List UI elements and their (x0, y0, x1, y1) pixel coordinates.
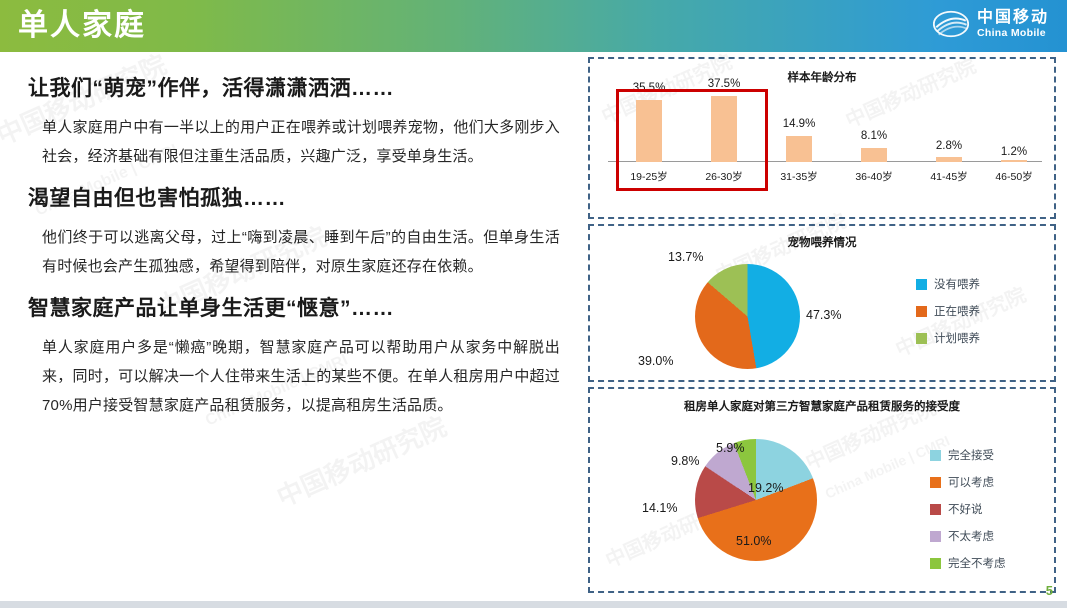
pie-value-label: 39.0% (638, 354, 673, 368)
legend-rental-acceptance: 完全接受 可以考虑 不好说 不太考虑 完全不考虑 (930, 447, 1006, 582)
bar-chart-plot-area: 35.5% 19-25岁 37.5% 26-30岁 14.9% 31-35岁 8… (600, 81, 1048, 186)
bar-category-label: 19-25岁 (614, 169, 684, 184)
slide-header: 单人家庭 中国移动 China Mobile (0, 0, 1067, 52)
legend-pet-feeding: 没有喂养 正在喂养 计划喂养 (916, 276, 980, 357)
section-freedom: 渴望自由但也害怕孤独…… 他们终于可以逃离父母，过上“嗨到凌晨、睡到午后”的自由… (28, 184, 560, 281)
bar-value-label: 14.9% (764, 118, 834, 130)
bar-value-label: 35.5% (614, 82, 684, 94)
legend-item[interactable]: 可以考虑 (930, 474, 1006, 490)
footer-bar (0, 601, 1067, 608)
pie-chart-pet-feeding (695, 264, 800, 369)
page-number: 5 (1046, 583, 1053, 598)
header-watermark (498, 0, 703, 52)
bar-rect (636, 100, 662, 162)
bar-chart-axis-line (608, 161, 1042, 162)
legend-item[interactable]: 完全接受 (930, 447, 1006, 463)
watermark-cn: 中国移动研究院 (270, 407, 451, 515)
bar-rect (936, 157, 962, 162)
china-mobile-swoosh-icon (933, 9, 969, 39)
legend-swatch-icon (916, 279, 927, 290)
legend-label: 不好说 (948, 501, 983, 517)
bar-value-label: 2.8% (914, 140, 984, 152)
china-mobile-logo: 中国移动 China Mobile (933, 9, 1049, 39)
text-content-column: 中国移动研究院 中国移动研究院 中国移动研究院 China Mobile | C… (0, 52, 580, 608)
legend-item[interactable]: 不好说 (930, 501, 1006, 517)
legend-swatch-icon (930, 450, 941, 461)
pie-value-label: 9.8% (671, 454, 700, 468)
legend-swatch-icon (930, 477, 941, 488)
legend-item[interactable]: 完全不考虑 (930, 555, 1006, 571)
legend-swatch-icon (930, 558, 941, 569)
legend-label: 完全接受 (948, 447, 994, 463)
legend-label: 计划喂养 (934, 330, 980, 346)
slide-root: 单人家庭 中国移动 China Mobile 中国移动研究院 中国移动研究院 中… (0, 0, 1067, 608)
bar-rect (786, 136, 812, 162)
legend-label: 完全不考虑 (948, 555, 1006, 571)
bar-category-label: 26-30岁 (689, 169, 759, 184)
bar-category-label: 46-50岁 (979, 169, 1049, 184)
legend-label: 可以考虑 (948, 474, 994, 490)
section-body: 他们终于可以逃离父母，过上“嗨到凌晨、睡到午后”的自由生活。但单身生活有时候也会… (28, 223, 560, 281)
logo-text-block: 中国移动 China Mobile (977, 10, 1049, 39)
bar-rect (1001, 160, 1027, 162)
legend-label: 不太考虑 (948, 528, 994, 544)
legend-item[interactable]: 不太考虑 (930, 528, 1006, 544)
legend-swatch-icon (916, 306, 927, 317)
page-title: 单人家庭 (18, 5, 146, 47)
bar-value-label: 37.5% (689, 78, 759, 90)
bar-value-label: 8.1% (839, 130, 909, 142)
chart-title: 宠物喂养情况 (590, 234, 1054, 250)
section-heading: 让我们“萌宠”作伴，活得潇潇洒洒…… (28, 74, 560, 104)
legend-item[interactable]: 计划喂养 (916, 330, 980, 346)
chart-title: 租房单人家庭对第三方智慧家庭产品租赁服务的接受度 (590, 398, 1054, 414)
pie-value-label: 47.3% (806, 308, 841, 322)
legend-swatch-icon (930, 504, 941, 515)
logo-text-cn: 中国移动 (977, 10, 1049, 26)
charts-column: 中国移动研究院 中国移动研究院 样本年龄分布 35.5% 19-25岁 37.5… (588, 52, 1067, 608)
bar-rect (711, 96, 737, 162)
bar-category-label: 36-40岁 (839, 169, 909, 184)
legend-label: 正在喂养 (934, 303, 980, 319)
chart-panel-pet-feeding: 中国移动研究院 中国移动研究院 宠物喂养情况 47.3% 39.0% 13.7%… (588, 224, 1056, 382)
chart-panel-rental-acceptance: 中国移动研究院 中国移动研究院 China Mobile | CMRI 租房单人… (588, 387, 1056, 593)
bar-category-label: 41-45岁 (914, 169, 984, 184)
logo-text-en: China Mobile (977, 28, 1049, 39)
legend-item[interactable]: 没有喂养 (916, 276, 980, 292)
legend-label: 没有喂养 (934, 276, 980, 292)
bar-value-label: 1.2% (979, 146, 1049, 158)
pie-value-label: 19.2% (748, 481, 783, 495)
bar-category-label: 31-35岁 (764, 169, 834, 184)
legend-item[interactable]: 正在喂养 (916, 303, 980, 319)
section-heading: 智慧家庭产品让单身生活更“惬意”…… (28, 294, 560, 324)
pie-value-label: 5.9% (716, 441, 745, 455)
chart-panel-age-distribution: 中国移动研究院 中国移动研究院 样本年龄分布 35.5% 19-25岁 37.5… (588, 57, 1056, 219)
section-smart-home: 智慧家庭产品让单身生活更“惬意”…… 单人家庭用户多是“懒癌”晚期，智慧家庭产品… (28, 294, 560, 420)
section-body: 单人家庭用户中有一半以上的用户正在喂养或计划喂养宠物，他们大多刚步入社会，经济基… (28, 113, 560, 171)
bar-rect (861, 148, 887, 162)
pie-value-label: 14.1% (642, 501, 677, 515)
pie-value-label: 13.7% (668, 250, 703, 264)
section-pets: 让我们“萌宠”作伴，活得潇潇洒洒…… 单人家庭用户中有一半以上的用户正在喂养或计… (28, 74, 560, 171)
legend-swatch-icon (916, 333, 927, 344)
legend-swatch-icon (930, 531, 941, 542)
section-heading: 渴望自由但也害怕孤独…… (28, 184, 560, 214)
section-body: 单人家庭用户多是“懒癌”晚期，智慧家庭产品可以帮助用户从家务中解脱出来，同时，可… (28, 333, 560, 420)
pie-value-label: 51.0% (736, 534, 771, 548)
